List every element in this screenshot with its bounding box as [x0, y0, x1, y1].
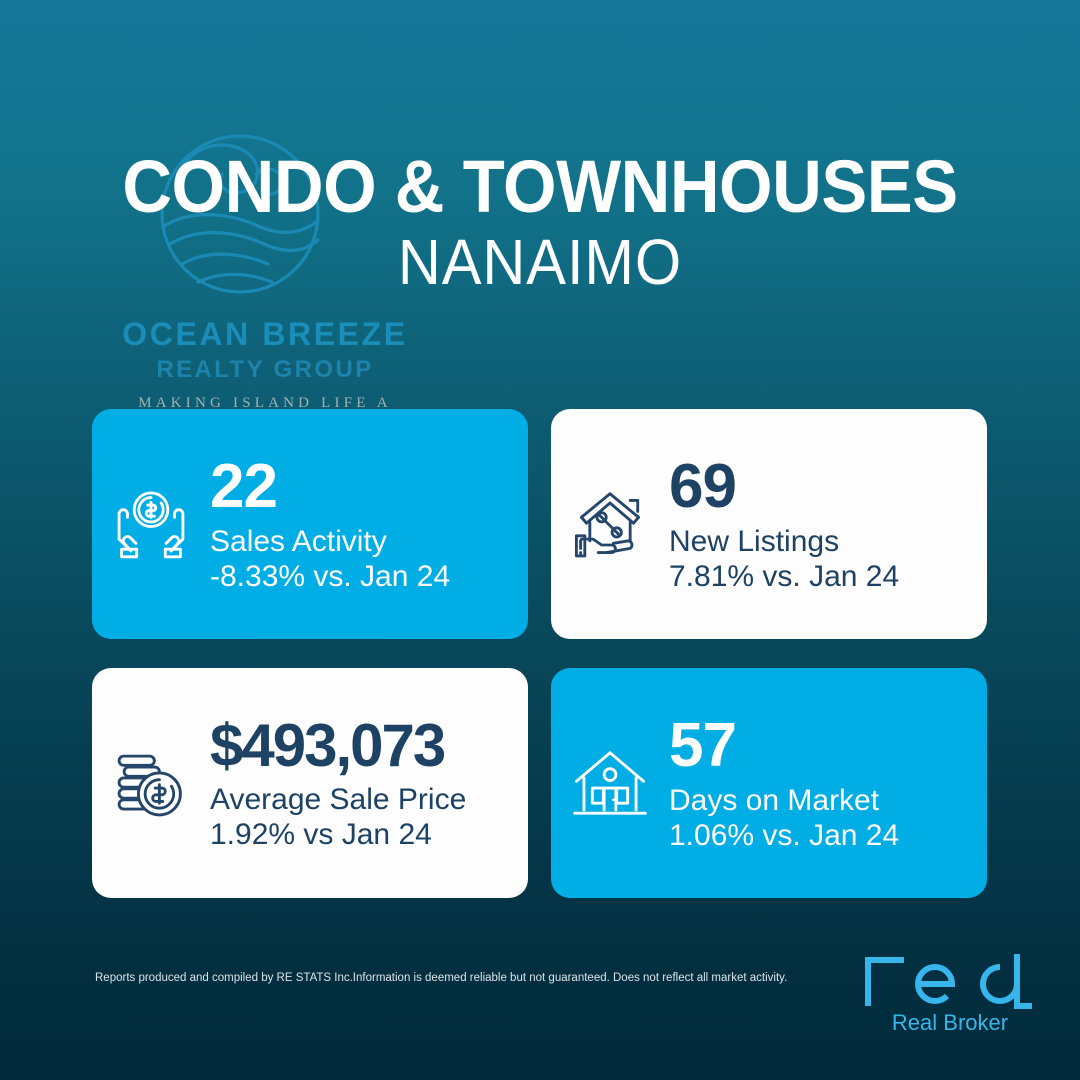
real-broker-wordmark-icon [860, 950, 1040, 1012]
page-subtitle: NANAIMO [38, 230, 1042, 294]
stat-delta: 1.06% vs. Jan 24 [669, 819, 973, 854]
stat-card-body: $493,073 Average Sale Price 1.92% vs Jan… [210, 714, 528, 853]
brand-subname: REALTY GROUP [95, 358, 435, 382]
stat-card-average-sale-price: $493,073 Average Sale Price 1.92% vs Jan… [92, 668, 528, 898]
stat-value: 57 [669, 713, 973, 778]
real-broker-logo: Real Broker [860, 950, 1040, 1050]
stat-card-days-on-market: 57 Days on Market 1.06% vs. Jan 24 [551, 668, 987, 898]
stat-value: 22 [210, 454, 514, 519]
stat-label: Average Sale Price [210, 783, 514, 818]
stat-card-body: 69 New Listings 7.81% vs. Jan 24 [669, 454, 987, 595]
stat-card-body: 57 Days on Market 1.06% vs. Jan 24 [669, 713, 987, 854]
hands-holding-coin-icon [92, 482, 210, 566]
stat-card-new-listings: 69 New Listings 7.81% vs. Jan 24 [551, 409, 987, 639]
stat-value: $493,073 [210, 714, 514, 777]
stat-delta: -8.33% vs. Jan 24 [210, 560, 514, 595]
stat-label: New Listings [669, 525, 973, 560]
coin-stack-icon [92, 741, 210, 825]
brand-name: OCEAN BREEZE [95, 318, 435, 350]
page-title: CONDO & TOWNHOUSES [38, 150, 1042, 224]
stat-card-body: 22 Sales Activity -8.33% vs. Jan 24 [210, 454, 528, 595]
stat-delta: 7.81% vs. Jan 24 [669, 560, 973, 595]
stat-card-sales-activity: 22 Sales Activity -8.33% vs. Jan 24 [92, 409, 528, 639]
real-broker-label: Real Broker [860, 1012, 1040, 1034]
house-percent-in-hand-icon [551, 482, 669, 566]
stat-value: 69 [669, 454, 973, 519]
disclaimer-text: Reports produced and compiled by RE STAT… [95, 971, 855, 986]
stat-label: Sales Activity [210, 525, 514, 560]
house-icon [551, 741, 669, 825]
stat-delta: 1.92% vs Jan 24 [210, 818, 514, 853]
stat-label: Days on Market [669, 784, 973, 819]
